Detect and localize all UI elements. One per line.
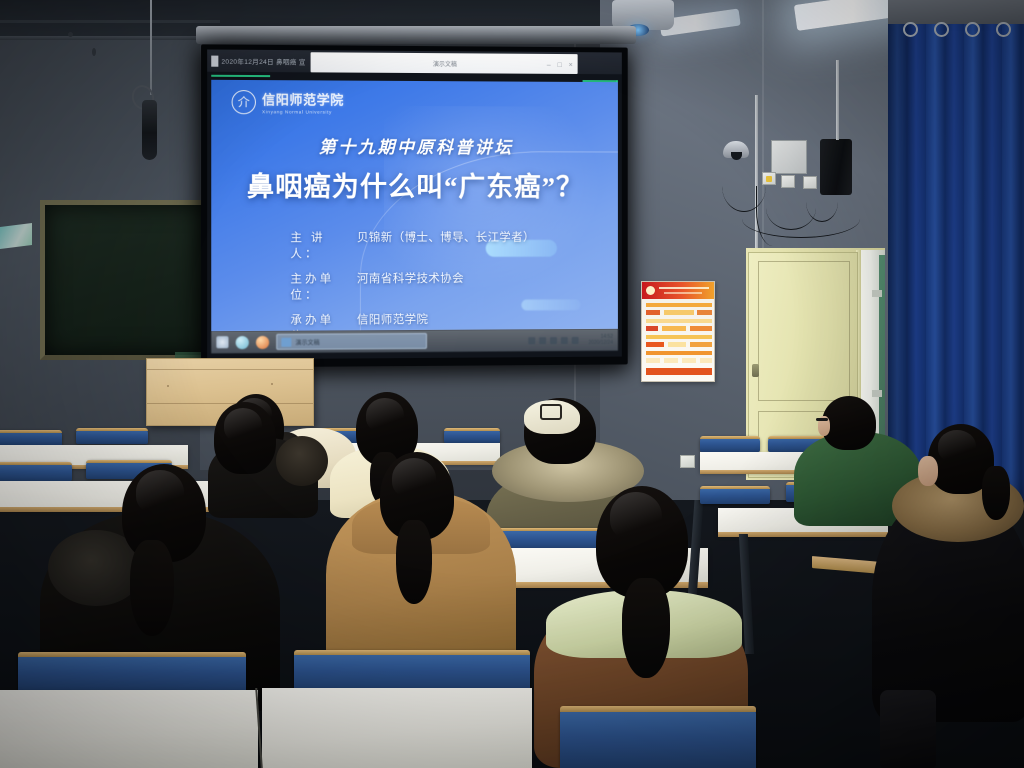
university-name-en: Xinyang Normal University [262, 109, 344, 114]
poster-cell [682, 358, 696, 363]
chair-trim [76, 428, 148, 431]
hanging-cable [742, 200, 860, 238]
chair-trim [560, 706, 756, 712]
browser-icon[interactable] [236, 336, 249, 349]
clock-date: 2020/12/24 [588, 340, 613, 345]
classroom-photo: 2020年12月24日 鼻咽癌 宣 演示文稿 – □ × [0, 0, 1024, 768]
microphone-cable [150, 0, 152, 95]
hair-highlight [136, 470, 184, 514]
minimize-icon[interactable]: – [547, 62, 551, 69]
chair [560, 706, 756, 768]
chair-trim [86, 460, 172, 463]
poster-cell [690, 342, 712, 347]
poster-cell [668, 342, 686, 347]
presentation-dialog-titlebar: 演示文稿 – □ × [311, 52, 578, 74]
boot [880, 690, 936, 768]
poster-row [646, 351, 712, 355]
desk [0, 690, 258, 768]
curtain-ring [903, 22, 918, 37]
face-profile [918, 456, 938, 486]
app-title-text: 2020年12月24日 鼻咽癌 宣 [221, 56, 305, 67]
poster-cell [664, 310, 694, 315]
door-handle[interactable] [752, 364, 759, 377]
poster-emblem-icon [646, 286, 655, 295]
poster-cell [646, 310, 660, 315]
projection-screen-surface: 2020年12月24日 鼻咽癌 宣 演示文稿 – □ × [207, 49, 622, 359]
poster-cell [697, 310, 712, 315]
hair-highlight [224, 408, 262, 442]
meta-label: 承办单位： [290, 311, 357, 331]
poster-row [646, 303, 712, 307]
curtain-ring [934, 22, 949, 37]
poster-cell [662, 326, 686, 331]
clock-time: 14:52 [601, 334, 613, 339]
fur-collar [276, 436, 328, 486]
poster-header-line [664, 292, 702, 294]
chair-trim [700, 486, 770, 489]
app-icon [211, 55, 218, 66]
wall-notice-card [0, 223, 32, 249]
slide-metadata-list: 主 讲 人： 贝锦新（博士、博导、长江学者） 主办单位： 河南省科学技术协会 承… [290, 229, 534, 331]
hair-highlight [938, 430, 976, 462]
chair-trim [294, 650, 530, 655]
university-seal-icon: 介 [232, 90, 256, 114]
slide-meta-row: 主办单位： 河南省科学技术协会 [290, 270, 534, 303]
input-method-icon[interactable] [550, 337, 557, 344]
slide-series-title: 第十九期中原科普讲坛 [211, 132, 618, 158]
chrome-icon[interactable] [256, 335, 269, 348]
chair-trim [18, 652, 246, 657]
poster-footer [646, 368, 712, 375]
meta-label: 主办单位： [290, 270, 357, 302]
hair [822, 396, 876, 450]
chair-trim [0, 430, 62, 433]
slide-main-title: 鼻咽癌为什么叫“广东癌”？ [211, 165, 618, 204]
cap-logo-icon [540, 404, 562, 420]
desk [262, 688, 532, 768]
poster-cell [646, 326, 658, 331]
blackboard [40, 200, 225, 360]
door-upper-panel [758, 261, 850, 401]
ponytail [622, 578, 670, 678]
meta-value: 贝锦新（博士、博导、长江学者） [357, 229, 535, 245]
meta-label: 主 讲 人： [290, 229, 357, 261]
taskbar-clock[interactable]: 14:52 2020/12/24 [588, 334, 613, 345]
taskbar-window-label: 演示文稿 [295, 337, 319, 346]
podium-dot [271, 383, 273, 385]
ponytail [130, 540, 174, 636]
poster-cell [700, 358, 712, 363]
ponytail [396, 520, 432, 604]
battery-icon[interactable] [561, 337, 568, 344]
university-name-cn: 信阳师范学院 [262, 89, 344, 109]
start-button-icon[interactable] [216, 336, 228, 348]
chair [294, 650, 530, 692]
taskbar-app-entry[interactable]: 2020年12月24日 鼻咽癌 宣 [211, 55, 305, 67]
hanging-microphone [142, 100, 157, 160]
electrical-junction-box [771, 140, 807, 174]
podium-seam [147, 403, 313, 404]
curtain-ring [996, 22, 1011, 37]
close-icon[interactable]: × [569, 62, 573, 69]
eyeglasses-icon [816, 418, 828, 421]
door-hinge [872, 290, 882, 297]
slide-meta-row: 主 讲 人： 贝锦新（博士、博导、长江学者） [290, 229, 534, 261]
poster-cell [646, 358, 660, 363]
door-hinge [872, 390, 882, 397]
meta-value: 河南省科学技术协会 [357, 270, 464, 286]
hair-highlight [366, 398, 404, 432]
poster-cell [664, 358, 678, 363]
wall-information-poster [641, 281, 715, 382]
powerpoint-icon [281, 337, 291, 346]
slide-meta-row: 承办单位： 信阳师范学院 [290, 310, 534, 331]
dialog-title-text: 演示文稿 [433, 59, 457, 68]
podium-seam [147, 369, 313, 370]
volume-icon[interactable] [539, 337, 546, 344]
projection-screen: 2020年12月24日 鼻咽癌 宣 演示文稿 – □ × [201, 44, 628, 367]
podium-dot [167, 385, 169, 387]
projection-screen-roller [196, 26, 636, 44]
poster-cell [646, 342, 664, 347]
poster-row [646, 319, 712, 323]
poster-row [646, 335, 712, 339]
socket-indicator [766, 176, 772, 182]
accent-line [211, 75, 270, 77]
poster-cell [690, 326, 712, 331]
wall-fixture-dot [92, 48, 96, 56]
wall-power-outlet [680, 455, 695, 468]
wall-fixture-dot [68, 32, 73, 37]
meta-value: 信阳师范学院 [357, 311, 429, 327]
poster-header-line [659, 287, 709, 289]
hair-highlight [610, 492, 662, 540]
ceiling-beam-secondary [0, 20, 220, 23]
show-desktop-icon[interactable] [572, 337, 579, 344]
curtain-ring [965, 22, 980, 37]
window-controls[interactable]: – □ × [547, 62, 573, 69]
wall-conduit [836, 60, 839, 140]
system-tray[interactable] [528, 337, 578, 344]
ponytail [982, 466, 1010, 520]
chair-trim [444, 428, 500, 431]
chair-trim [0, 462, 72, 465]
maximize-icon[interactable]: □ [558, 62, 562, 69]
chair [18, 652, 246, 692]
windows-taskbar[interactable]: 演示文稿 14:52 2020/12/24 [211, 329, 618, 354]
hair-highlight [392, 458, 436, 498]
presentation-slide: 介 信阳师范学院 Xinyang Normal University 第十九期中… [211, 80, 618, 331]
network-icon[interactable] [528, 337, 535, 344]
university-logo: 介 信阳师范学院 Xinyang Normal University [232, 89, 344, 115]
taskbar-active-window[interactable]: 演示文稿 [276, 333, 427, 350]
curtain-rod-housing [888, 0, 1024, 24]
chair-trim [700, 436, 760, 439]
